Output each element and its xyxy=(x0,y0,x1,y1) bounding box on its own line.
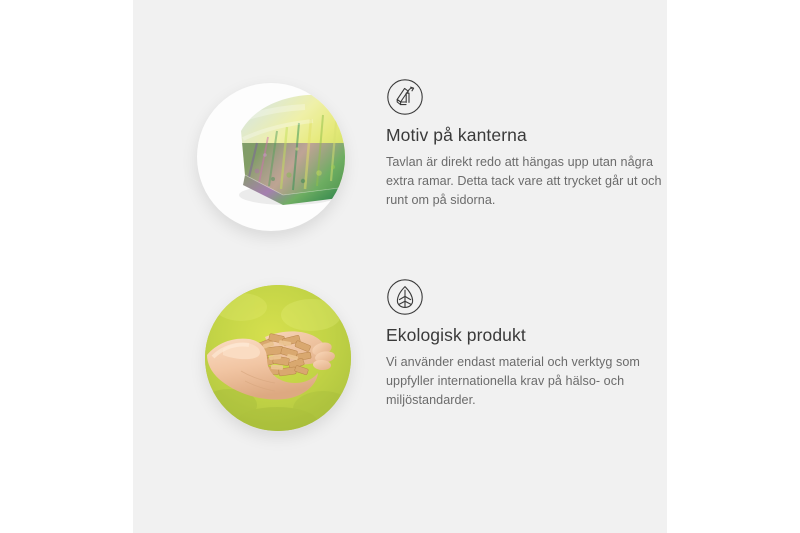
feature-body: Vi använder endast material och verktyg … xyxy=(386,353,671,410)
canvas-print-illustration xyxy=(227,91,345,211)
canvas-print-corner-photo xyxy=(197,83,345,231)
feature-title: Motiv på kanterna xyxy=(386,125,671,146)
product-feature-banner: Motiv på kanterna Tavlan är direkt redo … xyxy=(0,0,800,533)
feature-title: Ekologisk produkt xyxy=(386,325,671,346)
feature-text-edge-print: Motiv på kanterna Tavlan är direkt redo … xyxy=(386,78,671,210)
feature-row-edge-print: Motiv på kanterna Tavlan är direkt redo … xyxy=(133,78,667,258)
feature-body: Tavlan är direkt redo att hängas upp uta… xyxy=(386,153,671,210)
feature-row-eco-product: Ekologisk produkt Vi använder endast mat… xyxy=(133,278,667,458)
leaf-icon xyxy=(386,278,424,316)
hands-holding-woodchips-photo xyxy=(205,285,351,431)
feature-text-eco-product: Ekologisk produkt Vi använder endast mat… xyxy=(386,278,671,410)
woodchips-illustration xyxy=(205,285,351,431)
canvas-edge-print-icon xyxy=(386,78,424,116)
